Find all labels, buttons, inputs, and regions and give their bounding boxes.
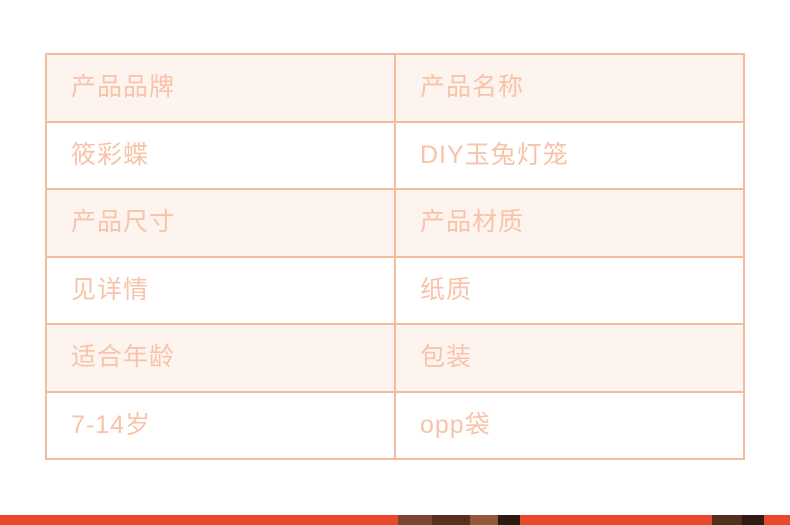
table-row: 适合年龄 包装 xyxy=(46,324,744,392)
cell-age-value: 7-14岁 xyxy=(46,392,395,460)
table-row: 7-14岁 opp袋 xyxy=(46,392,744,460)
spec-table-body: 产品品牌 产品名称 筱彩蝶 DIY玉兔灯笼 产品尺寸 产品材质 见详情 纸质 适… xyxy=(46,54,744,459)
table-row: 产品品牌 产品名称 xyxy=(46,54,744,122)
cell-material-label: 产品材质 xyxy=(395,189,744,257)
cell-packaging-label: 包装 xyxy=(395,324,744,392)
strip-segment xyxy=(432,515,470,525)
cell-material-value: 纸质 xyxy=(395,257,744,325)
table-row: 筱彩蝶 DIY玉兔灯笼 xyxy=(46,122,744,190)
bottom-decorative-strip xyxy=(0,515,790,525)
strip-segment xyxy=(520,515,712,525)
cell-brand-value: 筱彩蝶 xyxy=(46,122,395,190)
strip-segment xyxy=(712,515,742,525)
strip-segment xyxy=(398,515,432,525)
cell-packaging-value: opp袋 xyxy=(395,392,744,460)
table-row: 见详情 纸质 xyxy=(46,257,744,325)
strip-segment xyxy=(470,515,498,525)
product-spec-table: 产品品牌 产品名称 筱彩蝶 DIY玉兔灯笼 产品尺寸 产品材质 见详情 纸质 适… xyxy=(45,53,745,460)
cell-size-value: 见详情 xyxy=(46,257,395,325)
product-spec-table-container: 产品品牌 产品名称 筱彩蝶 DIY玉兔灯笼 产品尺寸 产品材质 见详情 纸质 适… xyxy=(45,53,745,460)
table-row: 产品尺寸 产品材质 xyxy=(46,189,744,257)
strip-segment xyxy=(742,515,764,525)
cell-name-label: 产品名称 xyxy=(395,54,744,122)
strip-segment xyxy=(498,515,520,525)
cell-size-label: 产品尺寸 xyxy=(46,189,395,257)
cell-name-value: DIY玉兔灯笼 xyxy=(395,122,744,190)
cell-brand-label: 产品品牌 xyxy=(46,54,395,122)
cell-age-label: 适合年龄 xyxy=(46,324,395,392)
strip-segment xyxy=(764,515,790,525)
strip-segment xyxy=(0,515,398,525)
